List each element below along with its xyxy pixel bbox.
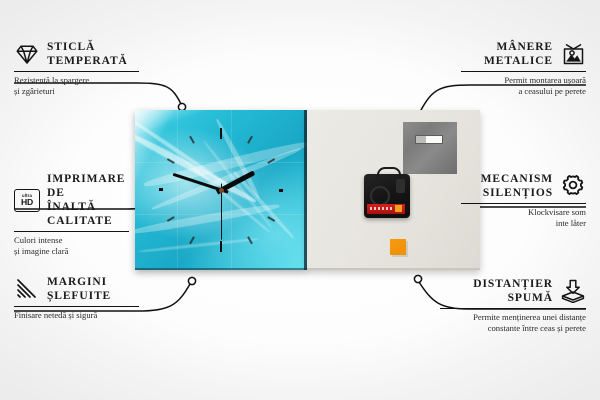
- clock-center-cap: [219, 188, 224, 193]
- callout-description: Rezistentă la spargere și zgârieturi: [14, 75, 139, 96]
- ultra-hd-icon: ultra HD: [14, 188, 40, 212]
- callout-description: Permite menținerea unei distanțe constan…: [440, 312, 586, 333]
- mechanism-knob: [370, 186, 390, 206]
- clock-back-panel: [307, 110, 480, 270]
- callout-title: MECANISM SILENȚIOS: [481, 172, 553, 200]
- connector-dot-polished-edges: [188, 277, 195, 284]
- callout-description: Finisare netedă și sigură: [14, 310, 139, 321]
- callout-title: DISTANȚIER SPUMĂ: [473, 277, 553, 305]
- battery: [367, 204, 405, 214]
- callout-title: MARGINI ȘLEFUITE: [47, 275, 111, 303]
- picture-hanger-icon: [560, 42, 586, 66]
- clock-front-face: [135, 110, 307, 270]
- callout-description: Klockvisare som inte låter: [461, 207, 586, 228]
- callout-tempered-glass[interactable]: STICLĂ TEMPERATĂ Rezistentă la spargere …: [14, 40, 139, 96]
- foam-spacer-icon: [560, 279, 586, 303]
- callout-rule: [14, 71, 139, 72]
- foam-spacer-pad: [390, 239, 406, 255]
- callout-rule: [14, 231, 129, 232]
- callout-silent-mechanism[interactable]: MECANISM SILENȚIOS Klockvisare som inte …: [461, 172, 586, 228]
- battery-positive-terminal: [395, 205, 402, 212]
- callout-rule: [440, 308, 586, 309]
- metal-hanger-plate: [403, 122, 457, 174]
- callout-title: IMPRIMARE DE ÎNALTĂ CALITATE: [47, 172, 129, 228]
- connector-dot-foam-spacer: [414, 275, 421, 282]
- infographic-canvas: STICLĂ TEMPERATĂ Rezistentă la spargere …: [0, 0, 600, 400]
- hanger-keyhole-slot: [415, 135, 443, 144]
- callout-foam-spacer[interactable]: DISTANȚIER SPUMĂ Permite menținerea unei…: [440, 277, 586, 333]
- callout-rule: [461, 71, 586, 72]
- callout-metal-handles[interactable]: MÂNERE METALICE Permit montarea ușoară a…: [461, 40, 586, 96]
- callout-description: Permit montarea ușoară a ceasului pe per…: [461, 75, 586, 96]
- diamond-icon: [14, 42, 40, 66]
- gear-icon: [560, 174, 586, 198]
- quartz-mechanism: [364, 174, 410, 218]
- mechanism-hanger-loop: [377, 167, 401, 178]
- polished-edge-icon: [14, 277, 40, 301]
- callout-high-quality-print[interactable]: ultra HD IMPRIMARE DE ÎNALTĂ CALITATE Cu…: [14, 172, 129, 256]
- mechanism-dial: [396, 179, 405, 193]
- callout-rule: [461, 203, 586, 204]
- callout-rule: [14, 306, 139, 307]
- callout-description: Culori intense și imagine clară: [14, 235, 129, 256]
- callout-polished-edges[interactable]: MARGINI ȘLEFUITE Finisare netedă și sigu…: [14, 275, 139, 321]
- callout-title: MÂNERE METALICE: [484, 40, 553, 68]
- callout-title: STICLĂ TEMPERATĂ: [47, 40, 128, 68]
